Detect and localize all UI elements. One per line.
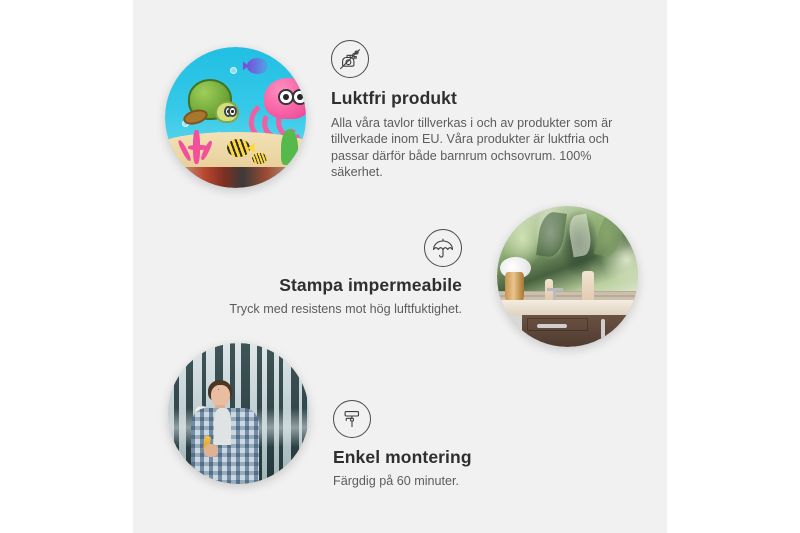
product-photo-bathroom [497, 206, 638, 347]
photo-bottom-strip [165, 167, 306, 188]
umbrella-icon [424, 229, 462, 267]
yellow-fish-icon [227, 139, 250, 157]
paint-roller-icon [333, 400, 371, 438]
product-photo-painter [168, 343, 309, 484]
feature-mounting: Enkel montering Färgdig på 60 minuter. [333, 400, 613, 489]
feature-title: Stampa impermeabile [200, 275, 462, 296]
seaweed-illustration [281, 129, 298, 166]
feature-odourless: Luktfri produkt Alla våra tavlor tillver… [331, 40, 631, 180]
no-odour-perfume-icon [331, 40, 369, 78]
bubble-icon [230, 67, 237, 74]
feature-body: Alla våra tavlor tillverkas i och av pro… [331, 115, 631, 180]
feature-title: Luktfri produkt [331, 88, 631, 109]
feature-waterproof: Stampa impermeabile Tryck med resistens … [200, 229, 462, 317]
product-photo-aquarium [165, 47, 306, 188]
small-fish-icon [252, 153, 266, 164]
feature-body: Tryck med resistens mot hög luftfuktighe… [200, 301, 462, 317]
coral-illustration [176, 122, 221, 164]
icon-wrapper [200, 229, 462, 267]
feature-title: Enkel montering [333, 447, 613, 468]
product-feature-panel: Luktfri produkt Alla våra tavlor tillver… [0, 0, 800, 533]
blue-fish-icon [247, 58, 268, 74]
sea-turtle-illustration [183, 79, 239, 126]
wood-vanity-cabinet [522, 315, 638, 347]
woman-figure [188, 380, 267, 484]
octopus-illustration [252, 78, 306, 140]
feature-body: Färgdig på 60 minuter. [333, 473, 613, 489]
